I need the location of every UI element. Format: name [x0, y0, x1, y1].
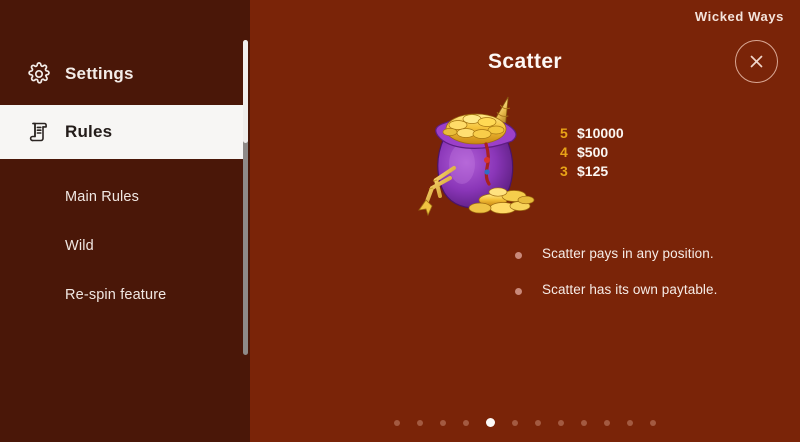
pagination-dot-7[interactable]: [535, 420, 541, 426]
scroll-icon: [26, 119, 52, 145]
page-title: Scatter: [250, 50, 800, 74]
pagination-dot-9[interactable]: [581, 420, 587, 426]
main-panel: Wicked Ways Scatter: [250, 0, 800, 442]
pagination-dot-1[interactable]: [394, 420, 400, 426]
paytable-row: 3 $125: [560, 162, 624, 181]
symbol-paytable-block: 5 $10000 4 $500 3 $125: [410, 88, 624, 223]
sidebar-scrollbar[interactable]: [243, 40, 248, 355]
pagination-dot-12[interactable]: [650, 420, 656, 426]
paytable-amount: $10000: [577, 124, 624, 143]
sidebar-item-rules[interactable]: Rules: [0, 105, 243, 159]
bullet-dot-icon: [515, 288, 522, 295]
sidebar-item-settings[interactable]: Settings: [0, 47, 250, 101]
sidebar-scrollbar-thumb[interactable]: [243, 40, 248, 143]
paytable-amount: $500: [577, 143, 608, 162]
pagination-dot-6[interactable]: [512, 420, 518, 426]
pagination-dot-10[interactable]: [604, 420, 610, 426]
paytable: 5 $10000 4 $500 3 $125: [560, 124, 624, 181]
rule-bullet-text: Scatter has its own paytable.: [542, 282, 718, 297]
pagination: [250, 418, 800, 427]
list-item: Scatter pays in any position.: [515, 246, 718, 261]
pagination-dot-5[interactable]: [486, 418, 495, 427]
sidebar-subitem-main-rules-label: Main Rules: [65, 189, 139, 205]
sidebar-item-settings-label: Settings: [65, 64, 134, 84]
rule-bullet-text: Scatter pays in any position.: [542, 246, 714, 261]
paytable-row: 4 $500: [560, 143, 624, 162]
scatter-symbol-icon: [410, 88, 545, 223]
rule-bullet-list: Scatter pays in any position. Scatter ha…: [515, 246, 718, 318]
gear-icon: [26, 61, 52, 87]
pagination-dot-8[interactable]: [558, 420, 564, 426]
paytable-count: 3: [560, 162, 577, 181]
sidebar-subitem-wild-label: Wild: [65, 238, 94, 254]
sidebar-subitem-main-rules[interactable]: Main Rules: [0, 173, 250, 222]
sidebar-subitem-re-spin-feature-label: Re-spin feature: [65, 287, 166, 303]
pagination-dot-4[interactable]: [463, 420, 469, 426]
rules-dialog: Settings Rules Main Rules: [0, 0, 800, 442]
paytable-count: 5: [560, 124, 577, 143]
sidebar-subitem-re-spin-feature[interactable]: Re-spin feature: [0, 271, 250, 320]
game-title: Wicked Ways: [695, 9, 784, 24]
paytable-amount: $125: [577, 162, 608, 181]
bullet-dot-icon: [515, 252, 522, 259]
list-item: Scatter has its own paytable.: [515, 282, 718, 297]
sidebar: Settings Rules Main Rules: [0, 0, 250, 442]
paytable-row: 5 $10000: [560, 124, 624, 143]
sidebar-subnav: Main Rules Wild Re-spin feature: [0, 173, 250, 320]
sidebar-subitem-wild[interactable]: Wild: [0, 222, 250, 271]
pagination-dot-11[interactable]: [627, 420, 633, 426]
paytable-count: 4: [560, 143, 577, 162]
pagination-dot-2[interactable]: [417, 420, 423, 426]
pagination-dot-3[interactable]: [440, 420, 446, 426]
sidebar-item-rules-label: Rules: [65, 122, 112, 142]
